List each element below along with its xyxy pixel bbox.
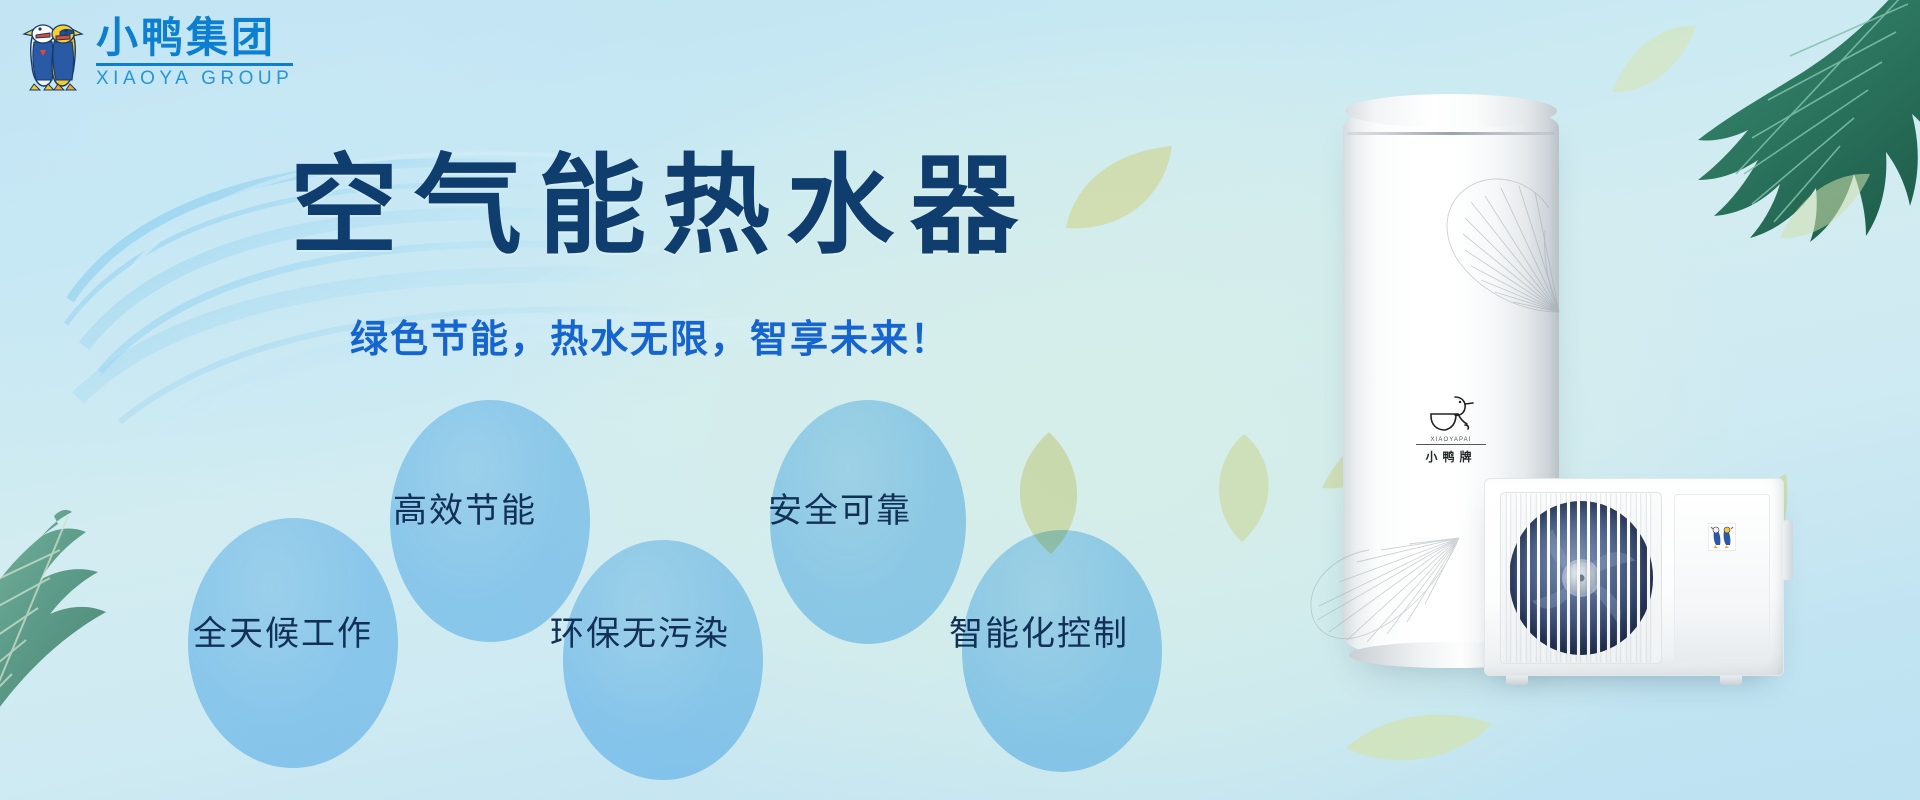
tank-brand-rule xyxy=(1416,444,1486,445)
duck-outline-icon xyxy=(1425,392,1477,436)
page-title: 空气能热水器 xyxy=(290,150,1110,264)
feature-bubble-eco-friendly[interactable]: 环保无污染 xyxy=(550,606,730,655)
accent-leaf-7 xyxy=(1610,20,1700,100)
tank-brand-pinyin: XIAOYAPAI xyxy=(1408,437,1494,443)
accent-leaf-8 xyxy=(1778,170,1874,244)
banana-leaf xyxy=(0,500,220,800)
tank-seam-line xyxy=(1347,132,1555,135)
grille-bars xyxy=(1501,493,1661,663)
fan-grille-icon xyxy=(1500,492,1662,664)
headline-block: 空气能热水器 绿色节能，热水无限，智享未来！ xyxy=(290,150,1110,363)
feature-bubble-safe-reliable[interactable]: 安全可靠 xyxy=(768,483,912,532)
outdoor-unit-side-panel xyxy=(1674,494,1770,662)
tank-brand-chinese: 小鸭牌 xyxy=(1408,448,1494,465)
outdoor-unit-foot-right xyxy=(1720,676,1742,685)
outdoor-unit-foot-left xyxy=(1506,676,1528,685)
heat-pump-outdoor-unit[interactable] xyxy=(1484,478,1784,676)
accent-leaf-6 xyxy=(1344,704,1494,774)
feature-bubble-high-efficiency[interactable]: 高效节能 xyxy=(393,483,537,532)
refrigerant-pipe xyxy=(1783,520,1793,580)
promo-banner: 小鸭集团 XIAOYA GROUP 空气能热水器 绿色节能，热水无限，智享未来！… xyxy=(0,0,1920,800)
banner-alt-text: 空气能热水器 xyxy=(0,0,1,1)
two-duck-mascots-icon xyxy=(16,12,90,92)
monstera-leaf xyxy=(1640,0,1920,250)
bubble-shape-eco-friendly xyxy=(563,540,763,780)
tank-brand-mark: XIAOYAPAI 小鸭牌 xyxy=(1408,392,1494,465)
logo-chinese-name: 小鸭集团 xyxy=(96,17,293,59)
page-subtitle: 绿色节能，热水无限，智享未来！ xyxy=(350,308,1110,363)
logo-english-name: XIAOYA GROUP xyxy=(96,69,293,88)
tank-top-cap xyxy=(1345,94,1557,128)
xiaoya-group-logo[interactable]: 小鸭集团 XIAOYA GROUP xyxy=(16,12,293,92)
logo-divider xyxy=(96,63,293,66)
accent-leaf-3 xyxy=(1206,432,1280,544)
feature-bubble-smart-control[interactable]: 智能化控制 xyxy=(949,606,1129,655)
feature-bubble-all-weather[interactable]: 全天候工作 xyxy=(193,606,373,655)
duck-mascot-sticker-icon xyxy=(1708,523,1736,551)
ginkgo-leaf-pattern xyxy=(1419,162,1569,332)
